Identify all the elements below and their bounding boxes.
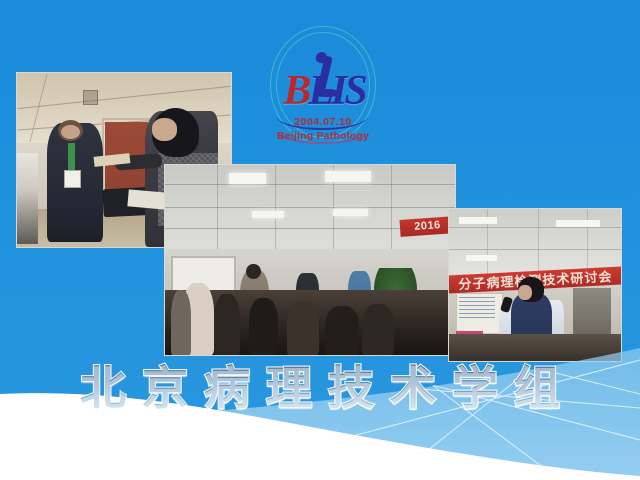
photo2-ceiling-lamp [252,211,284,219]
photo1-lanyard [68,143,74,171]
photo3-ceiling-grid [538,209,539,274]
photo3-ceiling-lamp [459,217,497,225]
photo2-speaker-head [246,264,261,279]
photo2-ceiling-grid [217,165,218,249]
photo2-ceiling-lamp [333,209,368,217]
photo1-wall-sign [83,90,98,104]
photo1-woman-right-face [152,118,178,141]
photo3-ceiling-grid [449,249,621,250]
photo2-ceiling-lamp [325,171,371,182]
photo2-ceiling-lamp [229,173,267,184]
photo3-ceiling-lamp [556,220,601,228]
photo1-badge [64,170,81,188]
photo2-ceiling-grid [275,165,276,249]
photo3-ceiling-grid [449,227,621,228]
page-title: 北京病理技术学组 [0,360,640,416]
photo3-screen-text [459,297,495,318]
logo-date: 2004.07.10 [270,116,376,128]
photo1-person-edge [17,153,38,243]
photo2-ceiling-grid [391,165,392,249]
photo1-paper-held [128,190,168,211]
photo3-speaker-face [518,285,532,300]
photo-conference-audience: 2016 [164,164,456,356]
photo3-ceiling-lamp [466,255,497,261]
logo-subtitle: Beijing Pathology [262,130,384,142]
slide-canvas: BLIS 2004.07.10 Beijing Pathology [0,0,640,480]
microscope-base [314,89,339,97]
photo2-ceiling-grid [165,207,455,208]
blis-logo: BLIS 2004.07.10 Beijing Pathology [262,24,384,152]
photo2-ceiling-grid [165,184,455,185]
photo3-cabinet [573,288,611,334]
